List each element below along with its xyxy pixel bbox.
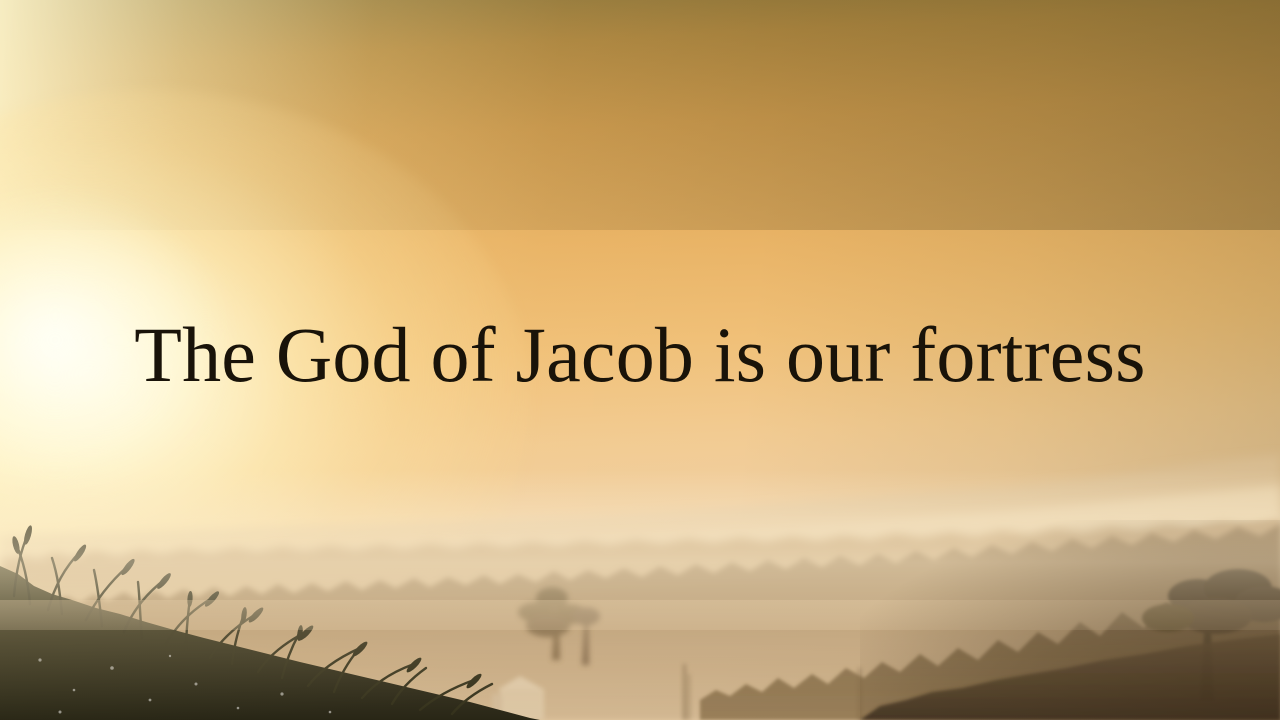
lyric-slide: The God of Jacob is our fortress [0,0,1280,720]
landscape [0,0,1280,720]
landscape-svg [0,0,1280,720]
